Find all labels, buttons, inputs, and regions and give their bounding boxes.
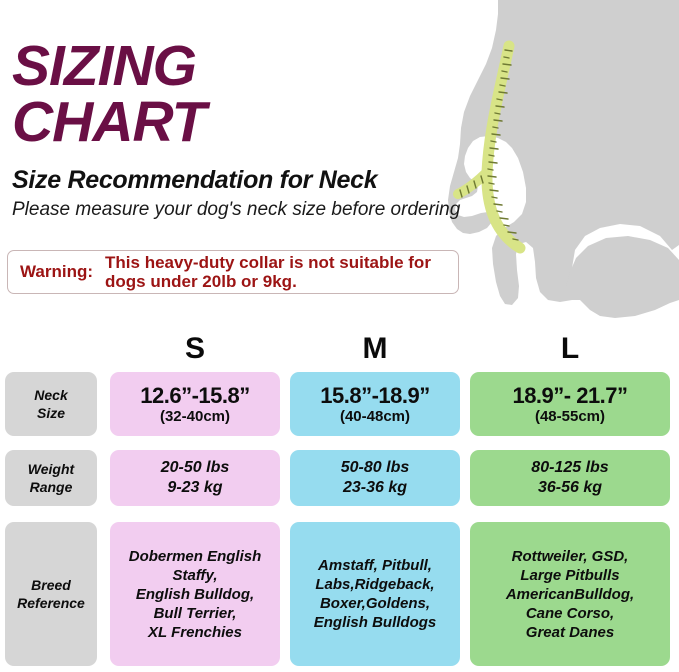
weight-range-small-cell: 20-50 lbs 9-23 kg (110, 450, 280, 506)
page-title-line-1: SIZING (12, 38, 482, 94)
neck-size-small-cm: (32-40cm) (160, 408, 230, 425)
row-label-weight-range: Weight Range (5, 450, 97, 506)
page-subtitle: Size Recommendation for Neck (12, 166, 482, 194)
row-label-neck-size: Neck Size (5, 372, 97, 436)
neck-size-small-cell: 12.6”-15.8” (32-40cm) (110, 372, 280, 436)
breed-reference-large-value: Rottweiler, GSD, Large Pitbulls American… (501, 547, 639, 642)
warning-message: This heavy-duty collar is not suitable f… (105, 253, 452, 291)
heading-block: SIZING CHART Size Recommendation for Nec… (12, 38, 482, 221)
sizing-chart-page: SIZING CHART Size Recommendation for Nec… (0, 0, 679, 672)
breed-reference-medium-value: Amstaff, Pitbull, Labs,Ridgeback, Boxer,… (309, 556, 442, 632)
neck-size-large-cm: (48-55cm) (535, 408, 605, 425)
weight-range-small-value: 20-50 lbs 9-23 kg (161, 458, 229, 498)
neck-size-medium-cell: 15.8”-18.9” (40-48cm) (290, 372, 460, 436)
row-label-breed-reference: Breed Reference (5, 522, 97, 666)
dog-silhouette-shape (448, 0, 679, 318)
weight-range-large-cell: 80-125 lbs 36-56 kg (470, 450, 670, 506)
neck-size-medium-cm: (40-48cm) (340, 408, 410, 425)
size-header-small: S (110, 332, 280, 366)
size-header-large: L (470, 332, 670, 366)
neck-size-medium-inches: 15.8”-18.9” (320, 384, 429, 408)
row-label-line-2: Size (37, 404, 65, 422)
row-label-line-1: Neck (34, 386, 67, 404)
breed-reference-large-cell: Rottweiler, GSD, Large Pitbulls American… (470, 522, 670, 666)
row-label-line-2: Range (30, 478, 73, 496)
row-label-line-2: Reference (17, 594, 85, 612)
weight-range-medium-value: 50-80 lbs 23-36 kg (341, 458, 409, 498)
warning-box: Warning: This heavy-duty collar is not s… (7, 250, 459, 294)
weight-range-large-value: 80-125 lbs 36-56 kg (531, 458, 608, 498)
row-label-line-1: Breed (31, 576, 71, 594)
measurement-instruction: Please measure your dog's neck size befo… (12, 199, 482, 221)
size-header-medium: M (290, 332, 460, 366)
breed-reference-small-value: Dobermen English Staffy, English Bulldog… (124, 547, 267, 642)
warning-label: Warning: (20, 262, 105, 282)
weight-range-medium-cell: 50-80 lbs 23-36 kg (290, 450, 460, 506)
neck-size-small-inches: 12.6”-15.8” (140, 384, 249, 408)
breed-reference-medium-cell: Amstaff, Pitbull, Labs,Ridgeback, Boxer,… (290, 522, 460, 666)
breed-reference-small-cell: Dobermen English Staffy, English Bulldog… (110, 522, 280, 666)
neck-size-large-cell: 18.9”- 21.7” (48-55cm) (470, 372, 670, 436)
row-label-line-1: Weight (28, 460, 74, 478)
neck-size-large-inches: 18.9”- 21.7” (512, 384, 627, 408)
page-title-line-2: CHART (12, 94, 482, 150)
